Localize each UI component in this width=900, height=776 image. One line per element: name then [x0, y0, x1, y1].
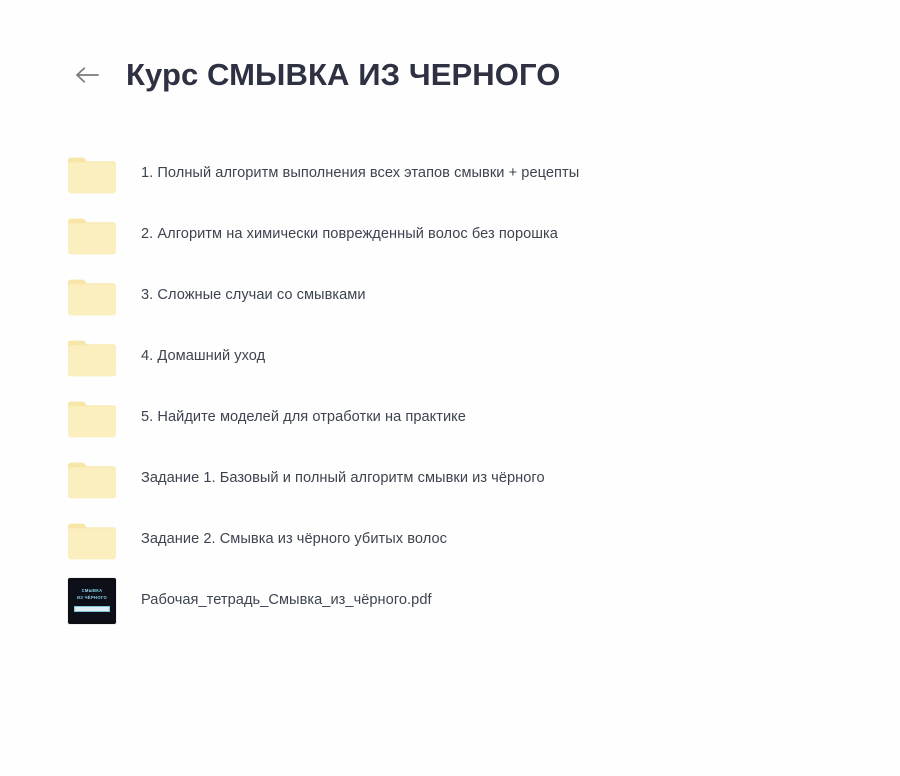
list-item-label: 2. Алгоритм на химически поврежденный во… [141, 225, 558, 244]
arrow-left-icon[interactable] [70, 58, 104, 92]
list-item[interactable]: Задание 2. Смывка из чёрного убитых воло… [0, 509, 900, 570]
thumbnail-line-2: ИЗ ЧЁРНОГО [77, 596, 107, 600]
list-item-label: 3. Сложные случаи со смывками [141, 286, 366, 305]
folder-icon [68, 273, 120, 319]
file-list: 1. Полный алгоритм выполнения всех этапо… [0, 143, 900, 631]
list-item-label: 5. Найдите моделей для отработки на прак… [141, 408, 466, 427]
list-item-label: Задание 2. Смывка из чёрного убитых воло… [141, 530, 447, 549]
list-item[interactable]: 3. Сложные случаи со смывками [0, 265, 900, 326]
list-item[interactable]: Задание 1. Базовый и полный алгоритм смы… [0, 448, 900, 509]
page-header: Курс СМЫВКА ИЗ ЧЕРНОГО [0, 46, 900, 104]
folder-icon [68, 395, 120, 441]
folder-icon [68, 334, 120, 380]
thumbnail-bar [74, 606, 110, 612]
list-item[interactable]: СМЫВКА ИЗ ЧЁРНОГО Рабочая_тетрадь_Смывка… [0, 570, 900, 631]
list-item[interactable]: 1. Полный алгоритм выполнения всех этапо… [0, 143, 900, 204]
thumbnail-content: СМЫВКА ИЗ ЧЁРНОГО [70, 581, 114, 621]
pdf-file-icon: СМЫВКА ИЗ ЧЁРНОГО [68, 578, 120, 624]
list-item[interactable]: 4. Домашний уход [0, 326, 900, 387]
list-item-label: 4. Домашний уход [141, 347, 265, 366]
list-item[interactable]: 2. Алгоритм на химически поврежденный во… [0, 204, 900, 265]
list-item-label: Задание 1. Базовый и полный алгоритм смы… [141, 469, 545, 488]
list-item-label: Рабочая_тетрадь_Смывка_из_чёрного.pdf [141, 591, 432, 610]
folder-icon [68, 212, 120, 258]
thumbnail-line-1: СМЫВКА [82, 589, 103, 593]
course-folder-page: Курс СМЫВКА ИЗ ЧЕРНОГО 1. Полный алгорит… [0, 0, 900, 776]
list-item[interactable]: 5. Найдите моделей для отработки на прак… [0, 387, 900, 448]
folder-icon [68, 456, 120, 502]
folder-icon [68, 517, 120, 563]
pdf-thumbnail: СМЫВКА ИЗ ЧЁРНОГО [68, 578, 116, 624]
folder-icon [68, 151, 120, 197]
page-title: Курс СМЫВКА ИЗ ЧЕРНОГО [126, 58, 560, 92]
list-item-label: 1. Полный алгоритм выполнения всех этапо… [141, 164, 579, 183]
